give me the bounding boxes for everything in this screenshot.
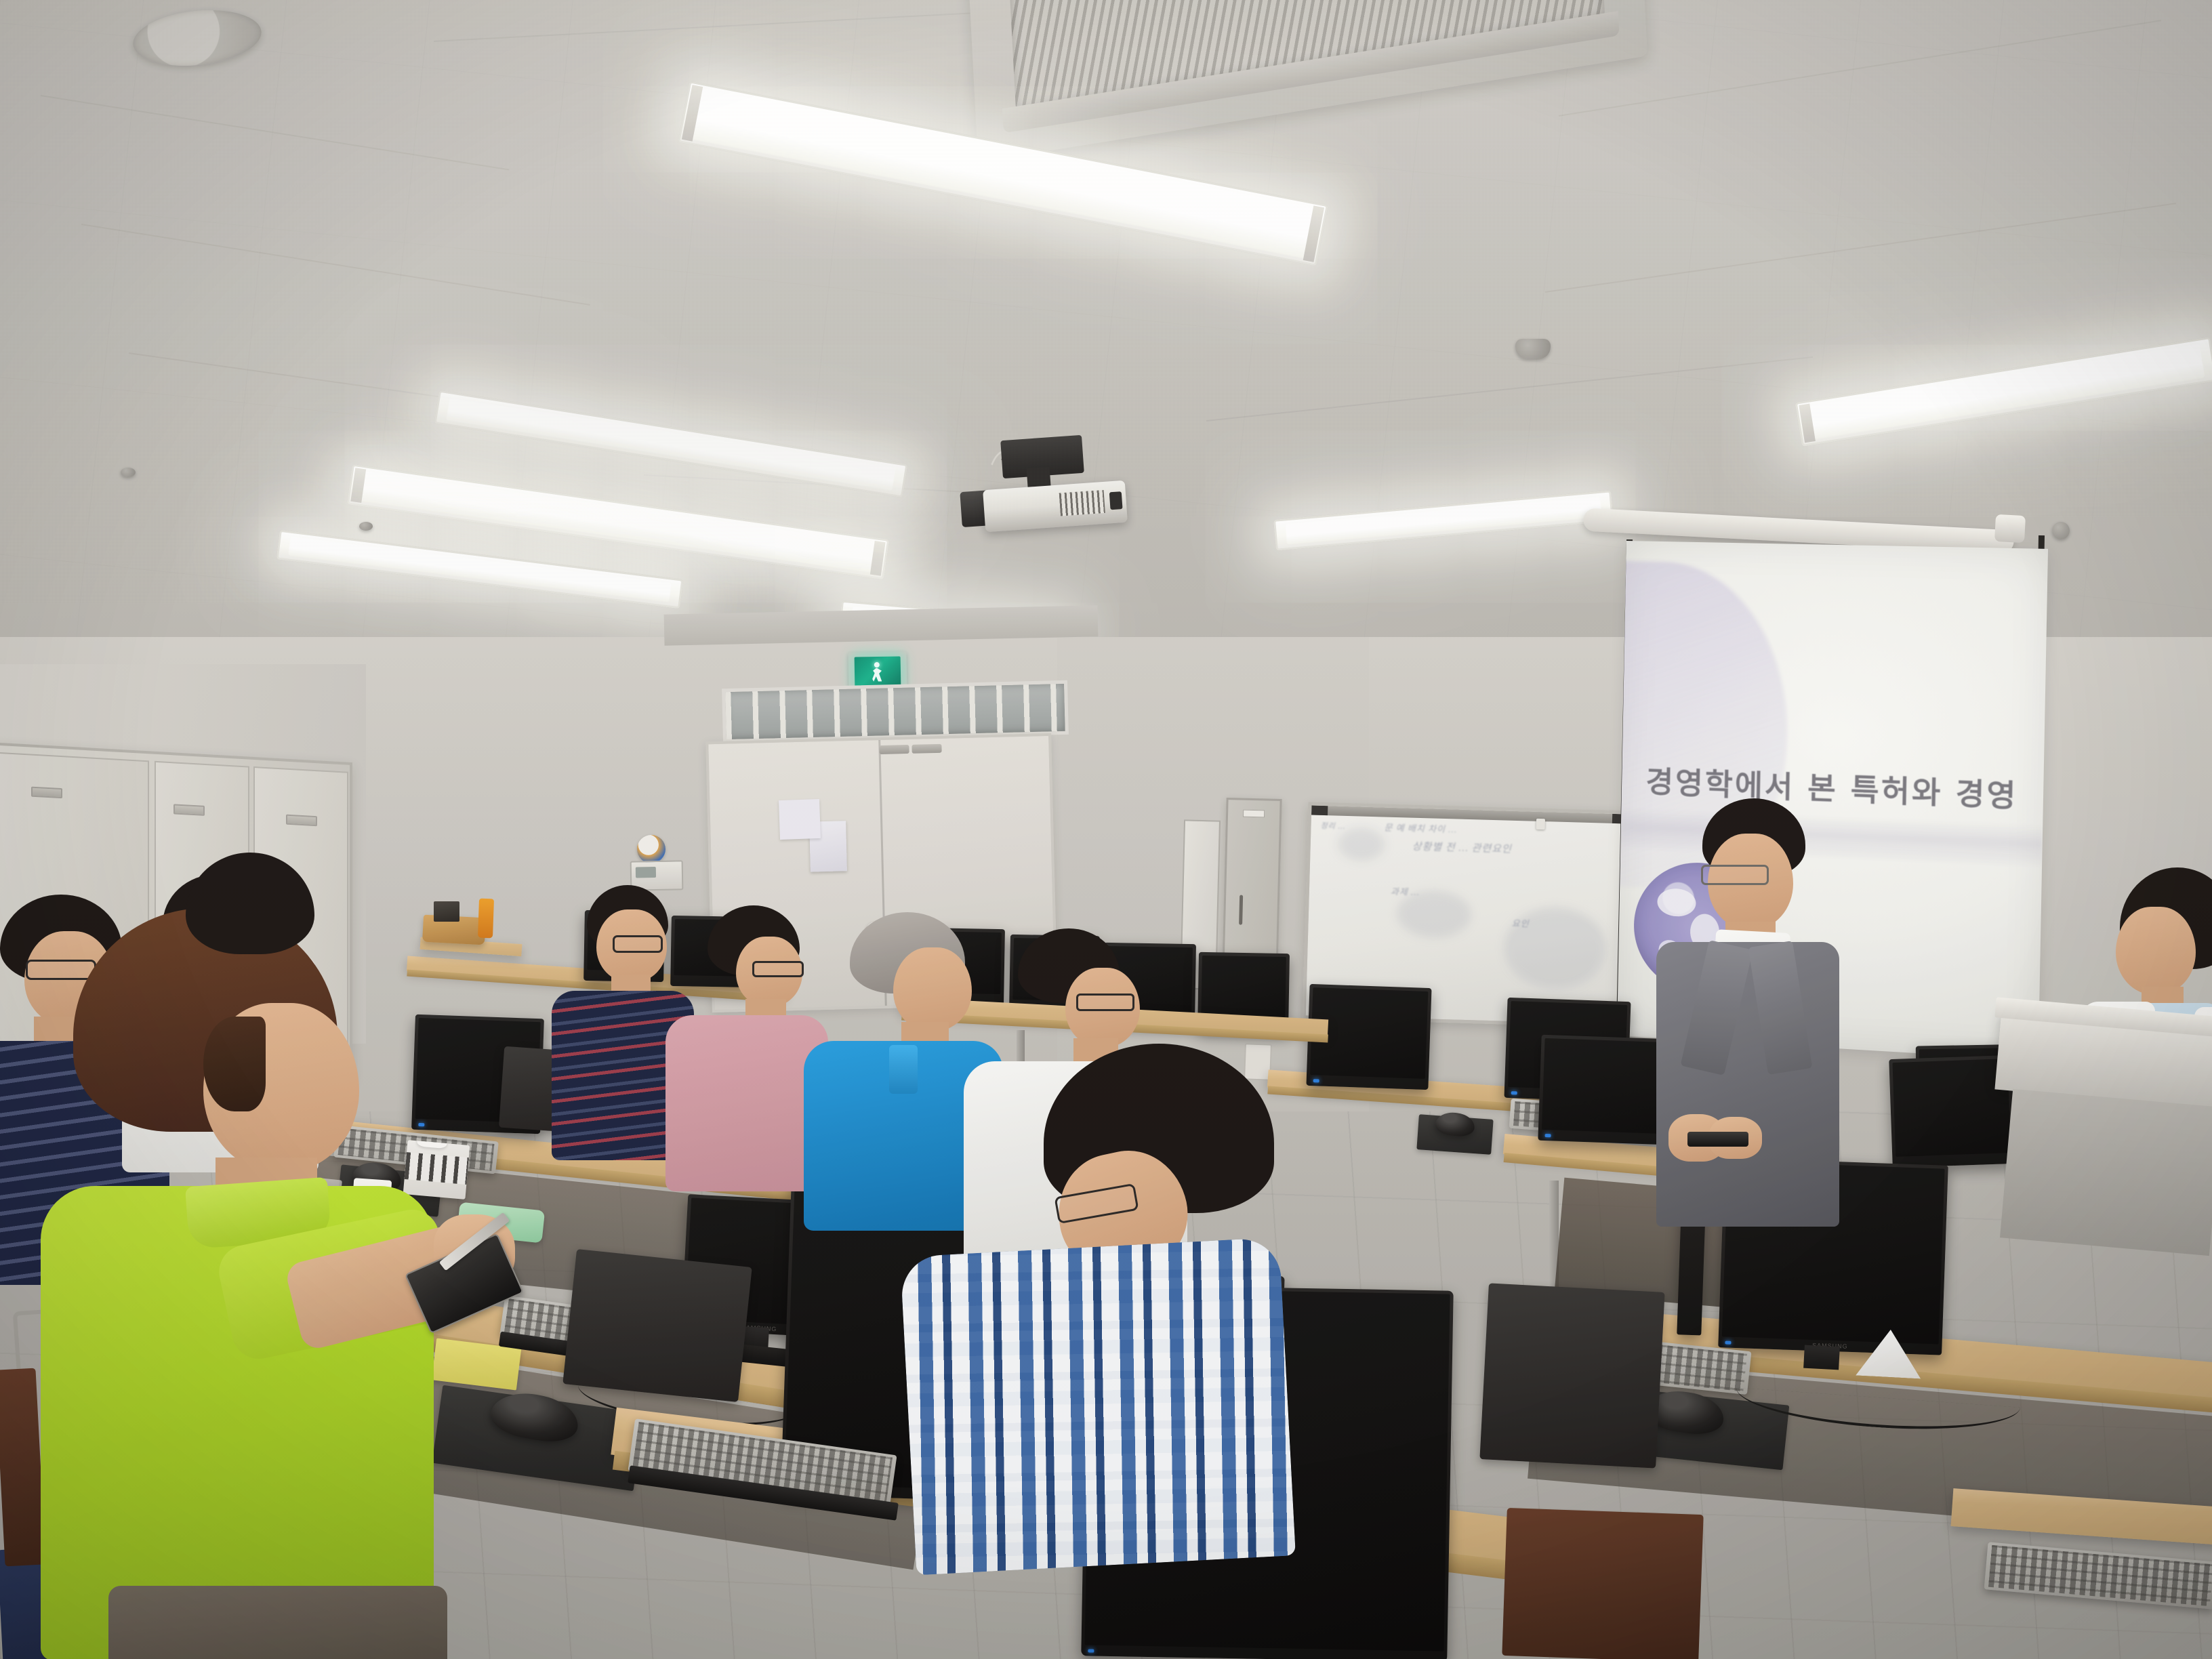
sideburn	[203, 1017, 266, 1111]
plaid-shirt	[900, 1237, 1296, 1576]
smoke-detector-icon	[1515, 339, 1551, 359]
glasses-icon	[1076, 994, 1134, 1011]
cabinet-label-slot	[286, 815, 317, 827]
presenter-remote[interactable]	[1687, 1132, 1748, 1147]
screen-roller-cap	[1994, 514, 2026, 543]
sprinkler-icon	[2052, 522, 2070, 539]
whiteboard-note: 문 예 배치 차이 …	[1384, 823, 1457, 836]
chair[interactable]	[1479, 1283, 1664, 1468]
person-plaid-man	[935, 1044, 1382, 1559]
suit-jacket	[1656, 942, 1839, 1227]
sprinkler-icon	[121, 468, 136, 477]
wall-sticker-icon	[637, 835, 665, 863]
panel-label	[1243, 810, 1265, 818]
trousers	[108, 1586, 447, 1659]
person-dark-hair-back	[169, 853, 325, 1029]
glasses-icon	[1701, 865, 1769, 885]
chair[interactable]	[1502, 1508, 1703, 1659]
whiteboard-magnet	[1536, 819, 1545, 829]
monitor-stand	[1803, 1345, 1840, 1370]
cabinet-label-slot	[173, 804, 205, 816]
wall-notice-paper	[779, 799, 821, 840]
emergency-exit-icon	[855, 656, 901, 687]
sprinkler-icon	[359, 522, 373, 531]
person-instructor	[1629, 798, 1873, 1246]
podium-body	[2000, 1089, 2212, 1256]
panel-handle[interactable]	[1239, 895, 1243, 925]
whiteboard-note: 정리 …	[1320, 822, 1345, 832]
cabinet-label-slot	[31, 787, 62, 799]
whiteboard-note: 상황별 전 … 관련요인	[1412, 841, 1511, 857]
classroom-photo: 정리 … 문 예 배치 차이 … 상황별 전 … 관련요인 과제 … 요인 경영…	[0, 0, 2212, 1659]
chair[interactable]	[562, 1249, 752, 1402]
